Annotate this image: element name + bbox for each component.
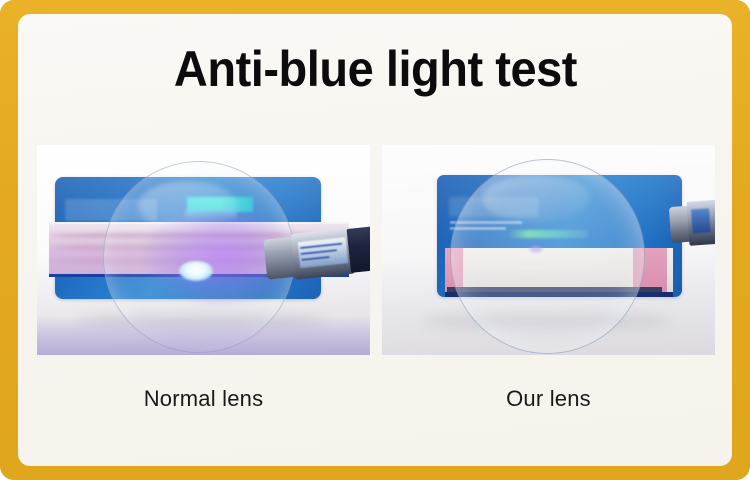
uv-torch xyxy=(669,199,715,247)
caption-our-lens: Our lens xyxy=(382,382,715,422)
photo-normal-lens xyxy=(37,145,370,355)
lens-glint xyxy=(138,181,237,230)
photo-our-lens xyxy=(382,145,715,355)
page-title-wrap: Anti-blue light test xyxy=(18,44,732,94)
comparison-photos xyxy=(37,145,715,355)
faint-violet-spot xyxy=(529,245,543,253)
caption-normal-lens: Normal lens xyxy=(37,382,370,422)
page-title: Anti-blue light test xyxy=(173,44,576,94)
torch-label xyxy=(691,208,711,233)
content-panel: Anti-blue light test xyxy=(18,14,732,466)
violet-floor-cast xyxy=(37,315,370,355)
torch-tail xyxy=(347,226,370,273)
lens-glint xyxy=(482,175,590,221)
screenshot-root: Anti-blue light test xyxy=(0,0,750,480)
green-edge-reflection xyxy=(508,230,588,238)
photo-captions: Normal lens Our lens xyxy=(37,382,715,422)
anti-blue-lens xyxy=(450,159,645,354)
